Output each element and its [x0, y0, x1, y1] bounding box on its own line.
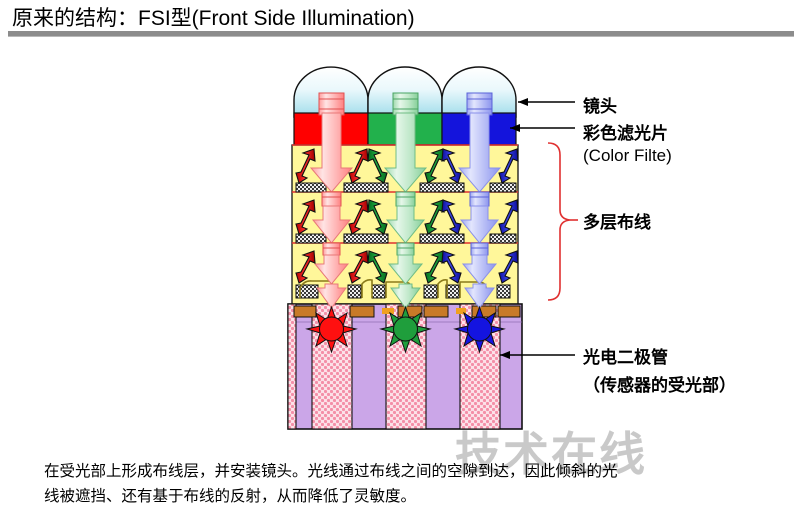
label-photodiode-cn: 光电二极管 [583, 343, 668, 368]
label-photodiode-sub: （传感器的受光部） [583, 371, 736, 396]
diagram-stage: 原来的结构：FSI型(Front Side Illumination) 技术在线 [0, 0, 800, 524]
fsi-cross-section-svg [0, 0, 800, 524]
label-color-filter-en: (Color Filte) [583, 146, 672, 166]
label-lens: 镜头 [583, 92, 617, 117]
caption-line-2: 线被遮挡、还有基于布线的反射，从而降低了灵敏度。 [44, 484, 784, 509]
multilayer-wiring-brace [548, 143, 578, 300]
label-color-filter-cn: 彩色滤光片 [583, 119, 668, 144]
caption-block: 在受光部上形成布线层，并安装镜头。光线通过布线之间的空隙到达，因此倾斜的光 线被… [44, 459, 784, 509]
leader-lens-arrowhead [518, 98, 528, 106]
caption-line-1: 在受光部上形成布线层，并安装镜头。光线通过布线之间的空隙到达，因此倾斜的光 [44, 459, 784, 484]
label-multilayer-wiring: 多层布线 [583, 208, 651, 233]
